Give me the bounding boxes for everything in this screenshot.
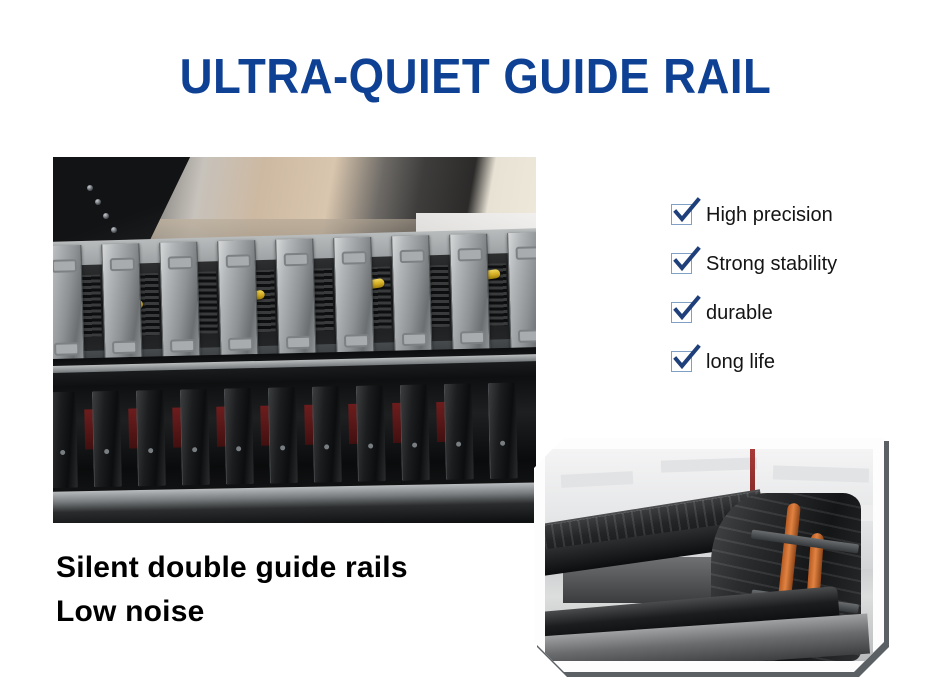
tagline: Silent double guide rails Low noise (56, 546, 408, 634)
feature-item-long-life: long life (671, 337, 939, 386)
feature-item-strong-stability: Strong stability (671, 239, 939, 288)
feature-item-durable: durable (671, 288, 939, 337)
feature-list: High precision Strong stability durable … (671, 190, 939, 386)
checkbox-checked-icon (671, 302, 692, 323)
feature-label: long life (706, 352, 775, 372)
inset-photo-frame (534, 438, 884, 672)
tagline-line-1: Silent double guide rails (56, 546, 408, 590)
inset-product-photo (534, 438, 886, 674)
inset-photo-image (545, 449, 873, 661)
checkbox-checked-icon (671, 351, 692, 372)
feature-label: Strong stability (706, 254, 837, 274)
main-product-photo (53, 157, 536, 523)
checkbox-checked-icon (671, 204, 692, 225)
feature-item-high-precision: High precision (671, 190, 939, 239)
checkbox-checked-icon (671, 253, 692, 274)
feature-label: High precision (706, 205, 833, 225)
tagline-line-2: Low noise (56, 590, 408, 634)
feature-label: durable (706, 303, 773, 323)
page-title: ULTRA-QUIET GUIDE RAIL (33, 52, 917, 103)
